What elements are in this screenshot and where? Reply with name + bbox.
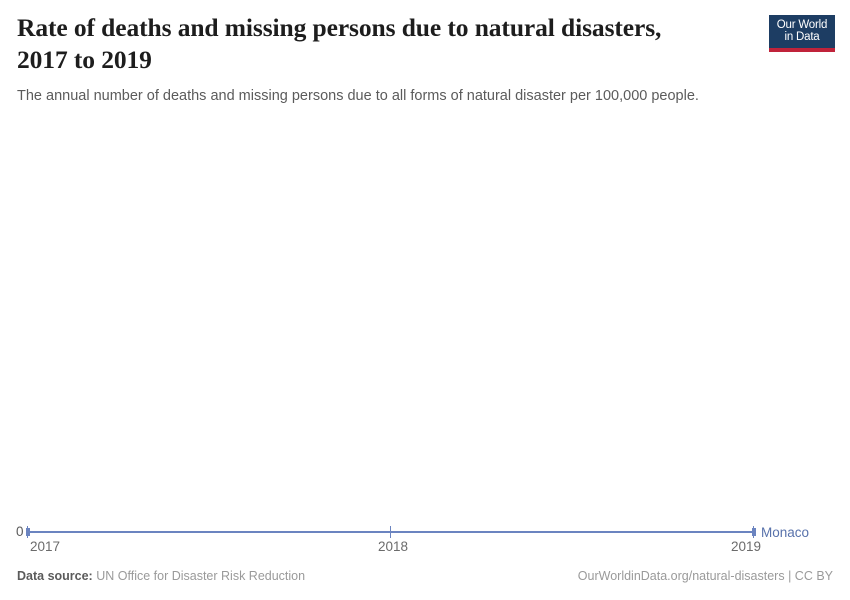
x-axis-tick-label-2019: 2019	[731, 539, 761, 555]
data-source-label: Data source:	[17, 569, 93, 583]
page-title: Rate of deaths and missing persons due t…	[17, 12, 717, 76]
x-axis-tick-mark	[27, 526, 28, 538]
data-source: Data source: UN Office for Disaster Risk…	[17, 568, 305, 584]
x-axis-tick-mark	[753, 526, 754, 538]
line-chart[interactable]: 0 Monaco 2017 2018 2019	[0, 105, 850, 555]
chart-subtitle: The annual number of deaths and missing …	[17, 86, 777, 106]
our-world-in-data-logo[interactable]: Our World in Data	[769, 15, 835, 52]
data-source-value: UN Office for Disaster Risk Reduction	[96, 569, 305, 583]
x-axis-tick-label-2017: 2017	[30, 539, 60, 555]
logo-line-2: in Data	[784, 31, 819, 44]
series-label-monaco[interactable]: Monaco	[761, 525, 809, 540]
x-axis-tick-mark	[390, 526, 391, 538]
chart-header: Rate of deaths and missing persons due t…	[17, 12, 833, 106]
logo-line-1: Our World	[777, 19, 827, 32]
x-axis-tick-label-2018: 2018	[378, 539, 408, 555]
chart-footer: Data source: UN Office for Disaster Risk…	[0, 568, 850, 588]
y-axis-tick-label-0: 0	[16, 525, 24, 539]
attribution-link[interactable]: OurWorldinData.org/natural-disasters | C…	[578, 568, 833, 584]
